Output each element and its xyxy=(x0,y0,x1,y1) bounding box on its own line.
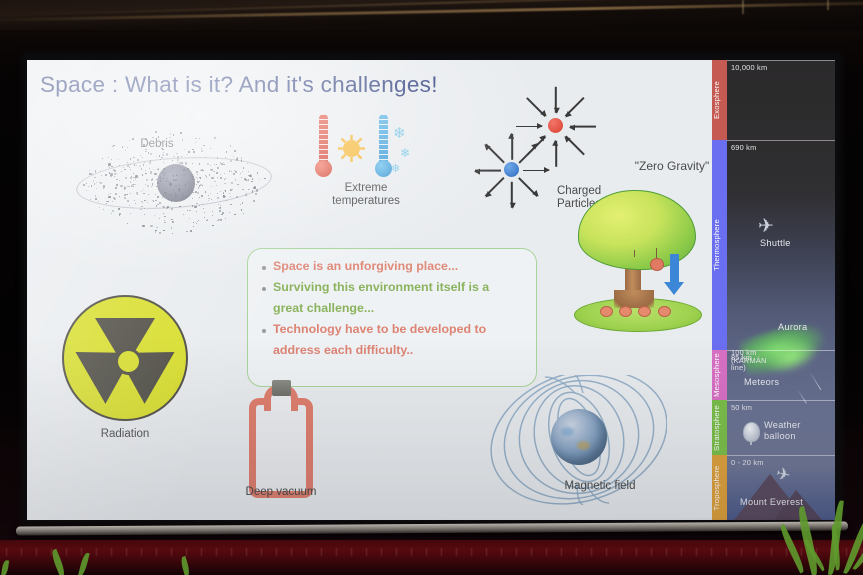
thermometer-cold-bulb xyxy=(375,160,392,177)
debris-particle xyxy=(125,177,127,179)
debris-particle xyxy=(111,213,112,214)
debris-particle xyxy=(241,160,242,161)
debris-particle xyxy=(103,209,104,210)
floor-highlight xyxy=(0,548,863,556)
debris-particle xyxy=(123,167,124,168)
debris-particle xyxy=(186,197,187,198)
debris-particle xyxy=(231,182,232,183)
debris-particle xyxy=(201,195,203,197)
karman-line-note: 100 km (KÁRMÁN line) xyxy=(731,349,766,372)
debris-particle xyxy=(145,184,146,185)
debris-particle xyxy=(88,186,89,187)
debris-particle xyxy=(101,175,102,176)
debris-particle xyxy=(199,205,200,206)
debris-particle xyxy=(170,194,172,196)
bullet-text: Technology have to be developed to xyxy=(273,322,486,337)
layer-altitude-label: 0 - 20 km xyxy=(731,458,764,467)
debris-particle xyxy=(241,157,242,158)
atmosphere-diagram: Exosphere10,000 kmThermosphere690 kmMeso… xyxy=(712,60,835,520)
debris-particle xyxy=(142,225,144,227)
debris-particle xyxy=(211,169,212,170)
arrow-inward xyxy=(570,126,596,128)
gravity-down-arrow-icon xyxy=(670,254,679,282)
debris-particle xyxy=(148,152,149,153)
magnetic-field-earth xyxy=(551,409,607,465)
debris-particle xyxy=(161,185,162,186)
ceiling-bracket xyxy=(827,0,829,10)
arrow-outward xyxy=(519,177,539,197)
debris-particle xyxy=(180,132,181,133)
debris-particle xyxy=(91,185,92,186)
debris-particle xyxy=(208,195,209,196)
snowflake-icon: ❄ xyxy=(400,146,410,161)
arrow-outward xyxy=(511,133,513,159)
debris-particle xyxy=(158,189,159,190)
arrow-outward xyxy=(523,170,549,172)
debris-particle xyxy=(157,182,159,184)
debris-particle xyxy=(229,212,230,213)
debris-particle xyxy=(185,184,186,185)
fallen-apple xyxy=(600,306,613,317)
ceiling-bracket xyxy=(742,0,744,14)
label-line-2: balloon xyxy=(764,431,801,442)
debris-particle xyxy=(219,207,221,209)
debris-particle xyxy=(86,190,87,191)
debris-particle xyxy=(180,169,181,170)
debris-particle xyxy=(183,214,184,215)
debris-particle xyxy=(204,217,205,218)
debris-particle xyxy=(154,173,156,175)
debris-particle xyxy=(152,183,153,184)
debris-particle xyxy=(220,205,221,206)
debris-particle xyxy=(187,154,188,155)
layer-altitude-label: 690 km xyxy=(731,143,756,152)
karman-line-3: line) xyxy=(731,364,766,372)
debris-particle xyxy=(187,168,188,169)
debris-particle xyxy=(114,176,115,177)
thermometer-cold-ticks xyxy=(379,114,388,166)
debris-particle xyxy=(151,179,153,181)
layer-color-tab: Mesosphere xyxy=(712,350,727,400)
debris-particle xyxy=(207,219,208,220)
debris-particle xyxy=(156,186,157,187)
debris-particle xyxy=(159,177,160,178)
layer-color-tab: Thermosphere xyxy=(712,140,727,350)
debris-particle xyxy=(203,208,204,209)
photo-scene: Space : What is it? And it's challenges!… xyxy=(0,0,863,575)
fallen-apple xyxy=(638,306,651,317)
debris-particle xyxy=(86,183,87,184)
layer-divider xyxy=(727,60,835,61)
debris-particle xyxy=(216,172,218,174)
debris-particle xyxy=(202,170,203,171)
thermometer-hot-stem xyxy=(319,114,328,166)
debris-particle xyxy=(159,155,160,156)
particle-blue xyxy=(504,162,519,177)
debris-particle xyxy=(214,164,215,165)
projection-screen: Space : What is it? And it's challenges!… xyxy=(27,60,835,520)
debris-particle xyxy=(225,157,226,158)
bullet-dot-icon xyxy=(262,329,266,333)
debris-particle xyxy=(159,218,160,219)
debris-particle xyxy=(157,196,159,198)
debris-particle xyxy=(166,180,167,181)
bullet-dot-icon xyxy=(262,266,266,270)
arrow-inward xyxy=(565,97,585,117)
debris-particle xyxy=(115,187,117,189)
debris-particle xyxy=(241,209,242,210)
debris-particle xyxy=(230,204,231,205)
debris-particle xyxy=(249,175,251,177)
debris-particle xyxy=(204,212,205,213)
debris-particle xyxy=(238,184,239,185)
layer-color-tab: Stratosphere xyxy=(712,400,727,455)
fallen-apple xyxy=(619,306,632,317)
debris-particle xyxy=(95,195,96,196)
debris-particle xyxy=(127,200,129,202)
debris-particle xyxy=(175,196,176,197)
debris-particle xyxy=(217,220,218,221)
debris-particle xyxy=(114,145,115,146)
bullet-dot-icon xyxy=(262,308,266,312)
debris-particle xyxy=(189,218,190,219)
debris-particle xyxy=(252,178,253,179)
arrow-outward xyxy=(485,144,505,164)
debris-particle xyxy=(203,145,204,146)
debris-particle xyxy=(220,191,221,192)
debris-particle xyxy=(175,192,176,193)
debris-particle xyxy=(234,150,236,152)
debris-particle xyxy=(256,189,258,191)
debris-particle xyxy=(171,227,172,228)
atmosphere-layer-exosphere: Exosphere10,000 km xyxy=(712,60,835,140)
marker-label-shuttle: Shuttle xyxy=(760,238,791,248)
earth-landmass xyxy=(577,441,590,450)
arrow-inward xyxy=(555,86,557,112)
debris-particle xyxy=(150,225,152,227)
debris-particle xyxy=(149,162,151,164)
debris-particle xyxy=(225,218,226,219)
debris-particle xyxy=(142,157,143,158)
debris-particle xyxy=(223,192,224,193)
debris-particle xyxy=(94,177,95,178)
arrow-outward xyxy=(475,170,501,172)
radiation-core xyxy=(115,348,142,375)
debris-particle xyxy=(155,231,156,232)
label-line-1: Extreme xyxy=(310,182,422,195)
debris-particle xyxy=(185,162,187,164)
figure-zero-gravity-tree xyxy=(572,190,702,330)
debris-particle xyxy=(115,193,116,194)
debris-particle xyxy=(116,184,117,185)
debris-particle xyxy=(223,162,224,163)
debris-particle xyxy=(242,189,243,190)
debris-particle xyxy=(135,178,136,179)
debris-particle xyxy=(233,156,234,157)
debris-particle xyxy=(154,215,155,216)
arrow-inward xyxy=(555,140,557,166)
debris-particle xyxy=(253,200,255,202)
debris-particle xyxy=(193,183,195,185)
debris-particle xyxy=(120,185,122,187)
label-line-1: Weather xyxy=(764,420,801,431)
debris-particle xyxy=(242,202,243,203)
debris-particle xyxy=(150,160,151,161)
bullet-dot-icon xyxy=(262,287,266,291)
debris-particle xyxy=(171,219,172,220)
debris-particle xyxy=(209,174,210,175)
debris-particle xyxy=(89,170,90,171)
debris-particle xyxy=(197,221,198,222)
debris-particle xyxy=(144,214,145,215)
debris-particle xyxy=(162,154,164,156)
label-zero-gravity: "Zero Gravity" xyxy=(622,160,722,173)
debris-particle xyxy=(135,175,137,177)
bullet-item: great challenge... xyxy=(262,301,524,316)
debris-particle xyxy=(149,168,150,169)
arrow-inward xyxy=(565,136,585,156)
debris-particle xyxy=(134,164,135,165)
layer-color-tab: Exosphere xyxy=(712,60,727,140)
debris-particle xyxy=(159,232,160,233)
debris-particle xyxy=(226,200,227,201)
debris-particle xyxy=(187,210,188,211)
thermometer-hot-ticks xyxy=(319,114,328,166)
bullet-text: great challenge... xyxy=(273,301,374,316)
debris-particle xyxy=(164,222,165,223)
label-radiation: Radiation xyxy=(75,428,175,441)
debris-particle xyxy=(150,171,152,173)
marker-label-meteors: Meteors xyxy=(744,377,779,387)
debris-particle xyxy=(166,195,167,196)
bullet-text: address each difficulty.. xyxy=(273,343,413,358)
debris-particle xyxy=(237,157,238,158)
debris-particle xyxy=(196,211,197,212)
arrow-outward xyxy=(485,177,505,197)
debris-particle xyxy=(112,146,113,147)
debris-particle xyxy=(230,145,231,146)
bullet-text: Space is an unforgiving place... xyxy=(273,259,458,274)
debris-particle xyxy=(214,137,216,139)
marker-label-aurora: Aurora xyxy=(778,322,807,332)
bottle-body xyxy=(249,398,313,498)
sun-rays-icon xyxy=(338,135,365,162)
debris-particle xyxy=(169,183,171,185)
debris-particle xyxy=(155,131,156,132)
debris-particle xyxy=(252,191,253,192)
debris-particle xyxy=(140,155,141,156)
debris-particle xyxy=(163,213,164,214)
debris-particle xyxy=(156,205,157,206)
debris-particle xyxy=(146,151,147,152)
layer-color-tab: Troposphere xyxy=(712,455,727,520)
debris-particle xyxy=(173,189,174,190)
debris-particle xyxy=(192,163,193,164)
debris-particle xyxy=(192,176,193,177)
debris-particle xyxy=(111,159,112,160)
debris-particle xyxy=(229,193,230,194)
debris-particle xyxy=(156,156,157,157)
debris-particle xyxy=(136,165,137,166)
debris-particle xyxy=(219,210,221,212)
debris-particle xyxy=(224,190,225,191)
debris-particle xyxy=(147,185,149,187)
page-title: Space : What is it? And it's challenges! xyxy=(40,72,438,98)
stage-floor xyxy=(0,540,863,575)
debris-particle xyxy=(113,169,114,170)
debris-particle xyxy=(107,201,108,202)
debris-particle xyxy=(212,211,213,212)
debris-particle xyxy=(110,197,111,198)
debris-particle xyxy=(248,175,249,176)
debris-particle xyxy=(221,214,222,215)
debris-particle xyxy=(216,185,217,186)
debris-particle xyxy=(199,177,200,178)
debris-particle xyxy=(243,167,244,168)
apple-stem xyxy=(634,250,635,257)
debris-particle xyxy=(167,206,168,207)
layer-altitude-label: 10,000 km xyxy=(731,63,767,72)
debris-particle xyxy=(162,180,163,181)
bullet-dot-icon xyxy=(262,350,266,354)
debris-particle xyxy=(164,216,165,217)
callout-box: Space is an unforgiving place...Survivin… xyxy=(247,248,537,387)
slide: Space : What is it? And it's challenges!… xyxy=(27,60,835,520)
layer-name-label: Troposphere xyxy=(712,465,727,510)
debris-particle xyxy=(157,227,158,228)
debris-particle xyxy=(235,171,237,173)
bottle-cap xyxy=(272,380,291,396)
bullet-item: Surviving this environment itself is a xyxy=(262,280,524,295)
layer-divider xyxy=(727,455,835,456)
debris-particle xyxy=(130,213,131,214)
debris-particle xyxy=(145,173,146,174)
debris-particle xyxy=(164,174,165,175)
bullet-list: Space is an unforgiving place...Survivin… xyxy=(248,249,536,358)
debris-particle xyxy=(226,151,227,152)
label-deep-vacuum: Deep vacuum xyxy=(226,486,336,499)
debris-particle xyxy=(130,177,131,178)
debris-particle xyxy=(194,206,196,208)
debris-particle xyxy=(217,177,218,178)
debris-particle xyxy=(124,169,125,170)
debris-particle xyxy=(214,181,215,182)
debris-particle xyxy=(243,213,244,214)
debris-particle xyxy=(212,225,213,226)
debris-particle xyxy=(130,169,131,170)
debris-particle xyxy=(137,159,138,160)
debris-particle xyxy=(95,170,96,171)
debris-particle xyxy=(176,153,177,154)
bullet-item: address each difficulty.. xyxy=(262,343,524,358)
debris-particle xyxy=(166,153,168,155)
fallen-apple xyxy=(658,306,671,317)
marker-label-weather-balloon: Weather balloon xyxy=(764,420,801,442)
debris-particle xyxy=(220,219,222,221)
thermometer-hot-bulb xyxy=(315,160,332,177)
debris-particle xyxy=(119,213,121,215)
debris-particle xyxy=(251,181,252,182)
figure-deep-vacuum xyxy=(245,380,317,500)
debris-particle xyxy=(196,203,197,204)
debris-particle xyxy=(196,223,197,224)
debris-particle xyxy=(183,174,184,175)
label-debris: Debris xyxy=(117,138,197,151)
label-extreme-temperatures: Extreme temperatures xyxy=(310,182,422,208)
debris-particle xyxy=(255,193,257,195)
debris-particle xyxy=(181,156,182,157)
debris-particle xyxy=(170,133,171,134)
debris-particle xyxy=(193,179,194,180)
debris-particle xyxy=(108,157,109,158)
debris-particle xyxy=(130,158,131,159)
debris-particle xyxy=(188,151,189,152)
hanging-apple xyxy=(650,258,664,271)
tree-trunk-base xyxy=(614,290,654,308)
debris-particle xyxy=(172,233,173,234)
debris-particle xyxy=(193,226,194,227)
debris-particle xyxy=(144,200,145,201)
layer-name-label: Stratosphere xyxy=(712,405,727,451)
layer-name-label: Thermosphere xyxy=(712,219,727,271)
layer-name-label: Mesosphere xyxy=(712,353,727,397)
earth-landmass xyxy=(561,427,574,436)
debris-particle xyxy=(109,172,110,173)
atmosphere-layer-troposphere: Troposphere0 - 20 km xyxy=(712,455,835,520)
debris-particle xyxy=(183,169,185,171)
label-magnetic-field: Magnetic field xyxy=(545,480,655,493)
debris-particle xyxy=(163,230,164,231)
snowflake-icon: ❄ xyxy=(393,126,406,141)
debris-particle xyxy=(172,221,174,223)
debris-particle xyxy=(198,220,199,221)
debris-particle xyxy=(186,231,187,232)
figure-radiation xyxy=(62,295,188,421)
bullet-item: Space is an unforgiving place... xyxy=(262,259,524,274)
bullet-text: Surviving this environment itself is a xyxy=(273,280,489,295)
debris-particle xyxy=(236,196,238,198)
label-line-2: temperatures xyxy=(310,195,422,208)
layer-divider xyxy=(727,140,835,141)
debris-particle xyxy=(240,204,241,205)
debris-particle xyxy=(174,156,175,157)
debris-particle xyxy=(105,174,107,176)
debris-particle xyxy=(118,208,119,209)
debris-particle xyxy=(199,138,200,139)
debris-particle xyxy=(209,198,210,199)
debris-particle xyxy=(212,215,213,216)
debris-particle xyxy=(190,230,192,232)
debris-particle xyxy=(210,148,211,149)
debris-particle xyxy=(163,162,164,163)
debris-particle xyxy=(146,179,148,181)
shuttle-icon: ✈ xyxy=(758,215,774,238)
debris-particle xyxy=(211,177,213,179)
debris-particle xyxy=(177,156,179,158)
debris-particle xyxy=(160,178,161,179)
layer-name-label: Exosphere xyxy=(712,81,727,119)
debris-particle xyxy=(189,210,190,211)
marker-label-mount-everest: Mount Everest xyxy=(740,497,803,507)
debris-particle xyxy=(127,162,128,163)
debris-particle xyxy=(218,204,219,205)
debris-particle xyxy=(127,223,128,224)
bullet-item: Technology have to be developed to xyxy=(262,322,524,337)
debris-particle xyxy=(217,167,219,169)
debris-particle xyxy=(141,206,142,207)
debris-particle xyxy=(112,210,114,212)
arrow-inward xyxy=(527,97,547,117)
